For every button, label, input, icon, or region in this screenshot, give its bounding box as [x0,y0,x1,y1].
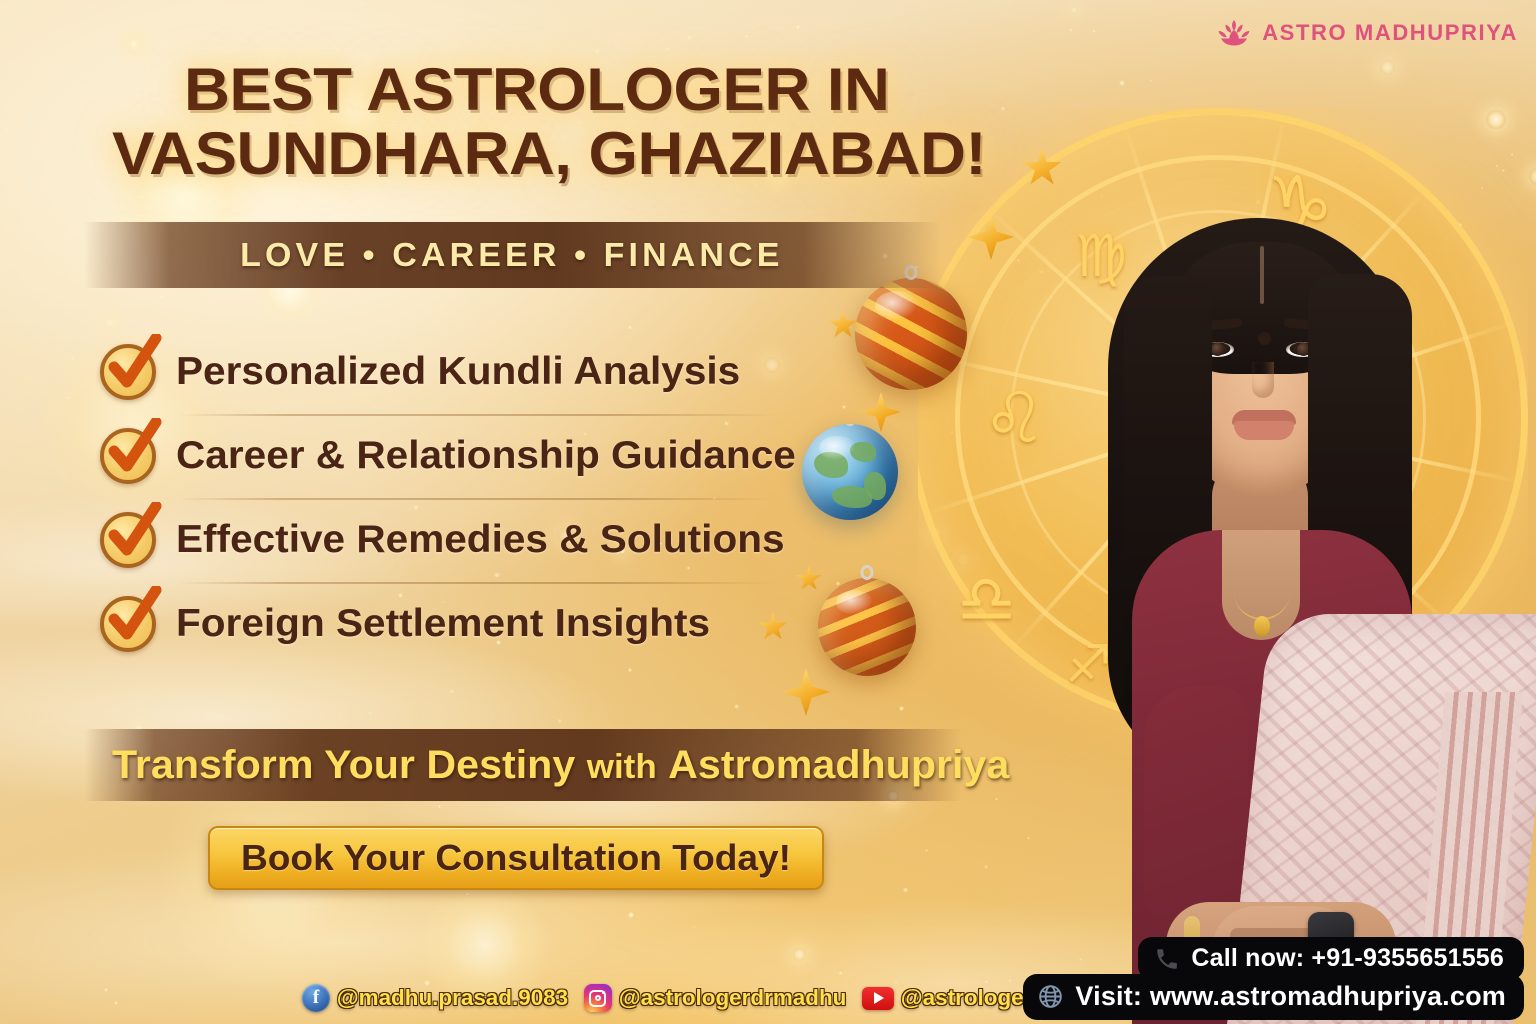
cta-label: Book Your Consultation Today! [241,837,791,879]
tagline-connector: with [587,748,657,786]
globe-icon [1037,983,1064,1010]
brand-logo[interactable]: ASTRO MADHUPRIYA [1217,18,1518,48]
youtube-icon[interactable] [862,987,894,1010]
brand-name: ASTRO MADHUPRIYA [1262,20,1518,46]
headline: BEST ASTROLOGER IN VASUNDHARA, GHAZIABAD… [112,58,992,185]
zodiac-glyph-scorpio: ♎ [957,567,1016,633]
website-contact[interactable]: Visit: www.astromadhupriya.com [1023,974,1524,1020]
instagram-icon[interactable] [584,984,612,1012]
feature-label: Personalized Kundli Analysis [176,350,740,394]
astrologer-portrait [1016,212,1532,1024]
tagline-part-2: Astromadhupriya [668,743,1009,787]
check-circle-icon [100,596,156,652]
ornament-orange-ball [855,278,967,390]
list-item: Effective Remedies & Solutions [100,498,800,582]
subtitle-band: LOVE • CAREER • FINANCE [84,222,940,288]
list-item: Career & Relationship Guidance [100,414,800,498]
social-bar: f @madhu.prasad.9083 @astrologerdrmadhu … [302,984,1126,1012]
headline-line-1: BEST ASTROLOGER IN [184,58,1040,122]
website-label: Visit: www.astromadhupriya.com [1075,981,1506,1012]
lotus-icon [1217,18,1251,48]
list-item: Personalized Kundli Analysis [100,330,800,414]
instagram-handle: @astrologerdrmadhu [619,985,847,1011]
headline-line-2: VASUNDHARA, GHAZIABAD! [112,122,1045,186]
feature-label: Effective Remedies & Solutions [176,518,785,562]
check-circle-icon [100,428,156,484]
facebook-handle: @madhu.prasad.9083 [337,985,568,1011]
ornament-globe-ball [802,424,898,520]
promotional-banner: ♑ ♒ ♍ ♌ ♎ ♐ [0,0,1536,1024]
book-consultation-button[interactable]: Book Your Consultation Today! [208,826,824,890]
list-item: Foreign Settlement Insights [100,582,800,666]
feature-label: Foreign Settlement Insights [176,602,710,646]
tagline-part-1: Transform Your Destiny [112,743,575,787]
phone-icon [1154,946,1180,972]
ornament-orange-ball-small [818,578,916,676]
subtitle-text: LOVE • CAREER • FINANCE [240,236,783,274]
check-circle-icon [100,512,156,568]
tagline-band: Transform Your Destiny with Astromadhupr… [84,729,962,801]
call-label: Call now: +91-9355651556 [1191,944,1504,973]
facebook-icon[interactable]: f [302,984,330,1012]
social-instagram[interactable]: @astrologerdrmadhu [584,984,844,1012]
tagline: Transform Your Destiny with Astromadhupr… [112,743,1009,788]
feature-label: Career & Relationship Guidance [176,434,796,478]
feature-list: Personalized Kundli Analysis Career & Re… [100,330,800,666]
social-facebook[interactable]: f @madhu.prasad.9083 [302,984,566,1012]
check-circle-icon [100,344,156,400]
